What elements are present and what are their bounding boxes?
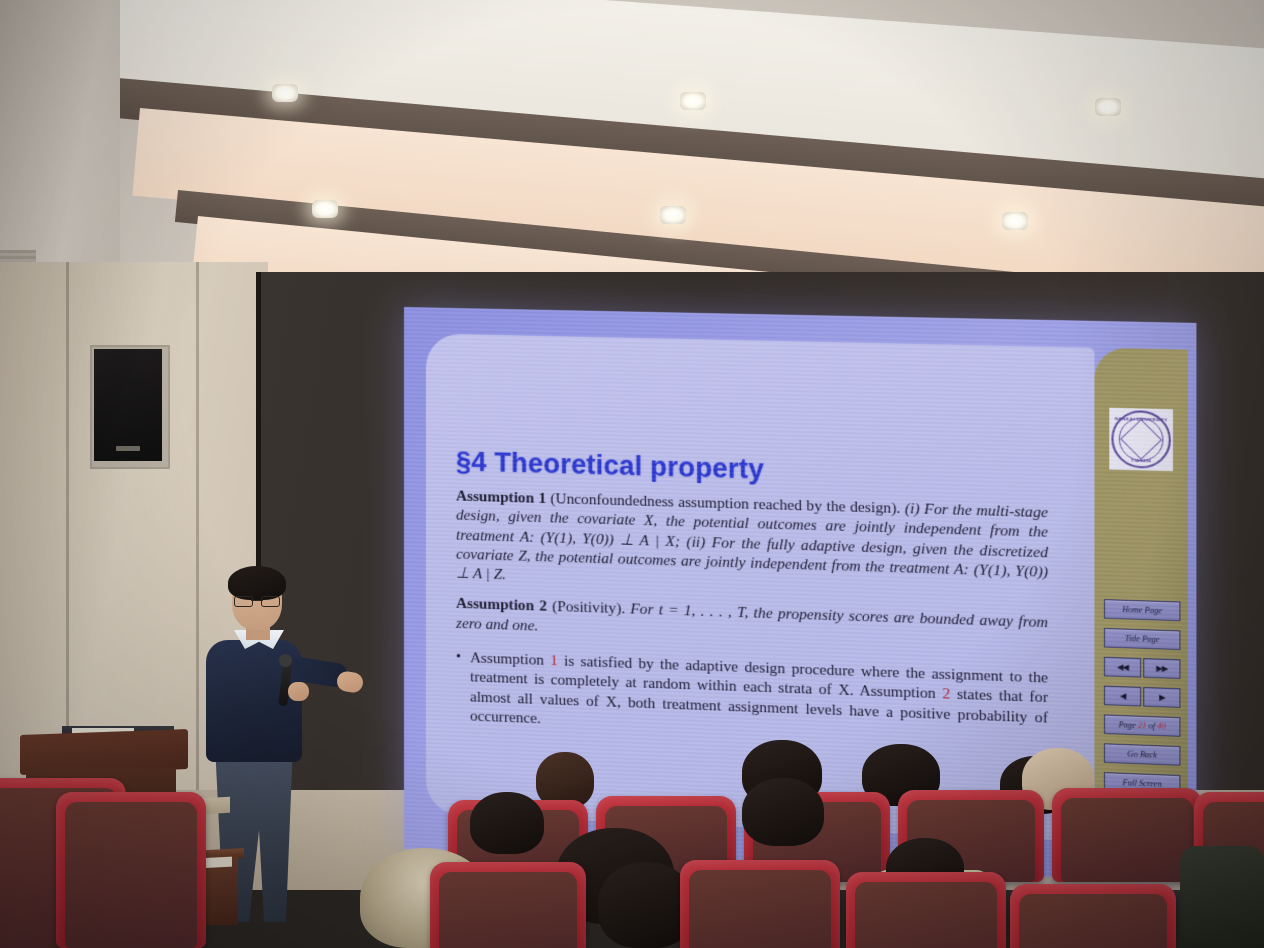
- assumption-1-label: Assumption 1: [456, 487, 546, 507]
- slide-body: Assumption 1 (Unconfoundedness assumptio…: [456, 486, 1048, 747]
- wall-speaker-badge: [116, 446, 140, 451]
- ceiling-spotlight: [660, 206, 686, 224]
- page-counter-total: 40: [1157, 722, 1166, 732]
- assumption-1-math-i: (Y(1), Y(0)) ⊥ A | X;: [541, 529, 681, 550]
- slide-navigation-sidebar: NANKAI UNIVERSITY TIANJIN Home Page Titl…: [1094, 348, 1187, 846]
- nav-button-go-back[interactable]: Go Back: [1104, 743, 1180, 765]
- ceiling-spotlight: [1002, 212, 1028, 230]
- ceiling-spotlight: [1095, 98, 1121, 116]
- wall-seam: [196, 262, 199, 822]
- bullet-marker-icon: •: [456, 648, 461, 726]
- nav-button-next-page[interactable]: ▶: [1143, 687, 1180, 708]
- bullet-ref-1: 1: [550, 652, 558, 669]
- page-counter-prefix: Page: [1118, 720, 1135, 730]
- page-counter-middle: of: [1149, 721, 1156, 731]
- assumption-1-paragraph: Assumption 1 (Unconfoundedness assumptio…: [456, 486, 1048, 601]
- nav-button-title-page[interactable]: Title Page: [1104, 628, 1180, 650]
- audience-jacket: [1180, 846, 1264, 948]
- nav-button-prev-page[interactable]: ◀: [1104, 686, 1141, 707]
- seal-bottom-text: TIANJIN: [1131, 457, 1151, 463]
- assumption-2-label: Assumption 2: [456, 595, 547, 615]
- bullet-part-1: Assumption: [470, 649, 544, 669]
- auditorium-seat: [1010, 884, 1176, 948]
- auditorium-seat: [430, 862, 586, 948]
- nav-button-home-page[interactable]: Home Page: [1104, 599, 1180, 621]
- auditorium-seat: [680, 860, 840, 948]
- assumption-2-paren: (Positivity).: [552, 598, 625, 618]
- audience-head: [742, 778, 824, 846]
- nav-button-first-page[interactable]: ◀◀: [1104, 657, 1141, 678]
- audience-head: [470, 792, 544, 854]
- auditorium-seat: [56, 792, 206, 948]
- bullet-ref-2: 2: [942, 685, 950, 703]
- wall-speaker: [94, 349, 162, 461]
- nav-button-last-page[interactable]: ▶▶: [1143, 658, 1180, 679]
- seal-inner-shape: [1120, 419, 1162, 460]
- ceiling-spotlight: [272, 84, 298, 102]
- nankai-seal-icon: NANKAI UNIVERSITY TIANJIN: [1111, 410, 1170, 469]
- seal-top-text: NANKAI UNIVERSITY: [1115, 416, 1168, 422]
- presenter-hair: [228, 566, 286, 600]
- page-counter-current: 21: [1138, 721, 1146, 731]
- ceiling-spotlight: [312, 200, 338, 218]
- microphone-head: [279, 654, 292, 667]
- assumption-2-paragraph: Assumption 2 (Positivity). For t = 1, . …: [456, 594, 1048, 653]
- ceiling-spotlight: [680, 92, 706, 110]
- lecture-hall-photo: §4 Theoretical property Assumption 1 (Un…: [0, 0, 1264, 948]
- presenter-glasses: [234, 596, 280, 605]
- presenter-left-hand: [288, 682, 309, 701]
- page-counter: Page 21 of 40: [1104, 714, 1180, 736]
- university-logo: NANKAI UNIVERSITY TIANJIN: [1109, 408, 1173, 471]
- auditorium-seat: [846, 872, 1006, 948]
